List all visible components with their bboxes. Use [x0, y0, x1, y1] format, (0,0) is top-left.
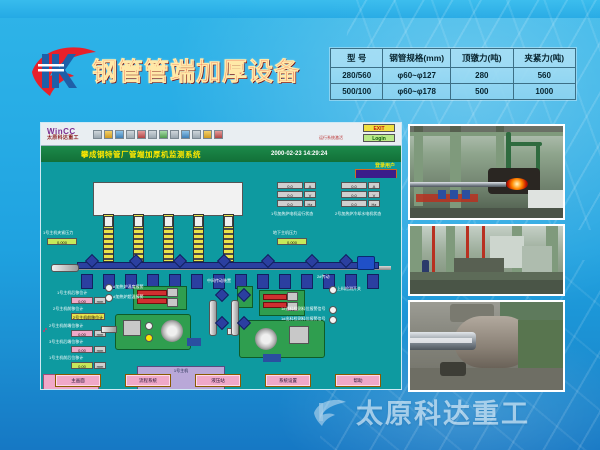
status-lamp — [329, 286, 337, 294]
valve-icon — [215, 288, 229, 302]
meter-label: 2号主机前端位移计 — [49, 323, 83, 329]
motor-group-label-2: 2号加热炉冷却水电机状态 — [335, 211, 381, 217]
roller-stand — [257, 274, 269, 289]
right-clamp-indicator — [263, 294, 287, 300]
right-clamp-block — [287, 292, 298, 301]
wincc-logo: WinCC 太原科达重工 — [41, 128, 79, 141]
photo-workshop-line — [408, 224, 565, 296]
motor-group-label-1: 1号加热炉电机运行状态 — [271, 211, 313, 217]
spec-cell: φ60~φ178 — [383, 84, 451, 100]
nav-button-process[interactable]: 流程系统 — [125, 374, 171, 387]
meter-value: 0.00 — [71, 362, 93, 369]
print-icon[interactable] — [126, 130, 135, 139]
run-icon[interactable] — [203, 130, 212, 139]
spec-cell: 500/100 — [331, 84, 383, 100]
hmi-datetime: 2000-02-23 14:29:24 — [271, 151, 327, 157]
spec-cell: 280 — [451, 68, 513, 84]
hmi-user-bar: 登录用户 — [41, 162, 401, 178]
spec-table: 型 号 钢管规格(mm) 顶镦力(吨) 夹紧力(吨) 280/560 φ60~φ… — [330, 48, 576, 100]
meter-value: 0.00 — [71, 330, 93, 337]
open-icon[interactable] — [93, 130, 102, 139]
page-title: 钢管管端加厚设备 — [92, 52, 300, 88]
right-pressure-label: 地下主机压力 — [273, 230, 297, 236]
clamp-block — [167, 288, 178, 297]
spec-header-cell: 顶镦力(吨) — [451, 49, 513, 68]
spec-header-row: 型 号 钢管规格(mm) 顶镦力(吨) 夹紧力(吨) — [331, 49, 576, 68]
nav-button-hydraulic[interactable]: 液压站 — [195, 374, 241, 387]
exit-button[interactable]: EXIT — [363, 124, 395, 132]
table-row: 280/560 φ60~φ127 280 560 — [331, 68, 576, 84]
status-lamp — [329, 306, 337, 314]
hydraulic-cylinder — [51, 264, 79, 272]
hmi-toolbar: WinCC 太原科达重工 运行系统激活 EXIT Login — [41, 123, 401, 146]
watermark-text: 太原科达重工 — [356, 392, 530, 431]
right-note: 2#传动 — [317, 274, 329, 280]
spacer2 — [43, 330, 45, 332]
hmi-mimic-canvas: 1号主机夹紧压力 0.000 地下主机压力 0.000 0.0 A 0.0 V … — [41, 178, 401, 390]
roller-stand — [191, 274, 203, 289]
motor2-voltage-value: 0.0 — [341, 191, 367, 198]
photo-upsetting-machine-hot-pipe — [408, 124, 565, 220]
motor2-freq-value: 0.0 — [341, 200, 367, 207]
right-drive-housing — [289, 326, 309, 344]
user-label: 登录用户 — [375, 162, 395, 169]
motor2-voltage-unit: V — [368, 191, 380, 198]
stop-icon[interactable] — [214, 130, 223, 139]
meter-value: 0.00 — [71, 346, 93, 353]
drive-shaft — [101, 326, 117, 333]
top-band — [0, 0, 600, 18]
spec-cell: φ60~φ127 — [383, 68, 451, 84]
folder-icon[interactable] — [104, 130, 113, 139]
clamp-block — [167, 298, 178, 307]
alarm-lamp — [105, 284, 113, 292]
nav-button-help[interactable]: 帮助 — [335, 374, 381, 387]
zoom-icon[interactable] — [192, 130, 201, 139]
column-cap — [134, 216, 143, 227]
spec-header-cell: 型 号 — [331, 49, 383, 68]
hmi-screenshot: WinCC 太原科达重工 运行系统激活 EXIT Login — [40, 122, 402, 390]
meter-unit: mm — [94, 346, 106, 353]
roller-stand — [301, 274, 313, 289]
spec-cell: 1000 — [513, 84, 575, 100]
column-cap — [224, 216, 233, 227]
press-frame — [93, 182, 243, 216]
toolbar-icons[interactable] — [93, 130, 223, 139]
spec-cell: 500 — [451, 84, 513, 100]
hmi-button-row: 主画面 流程系统 液压站 系统设置 帮助 — [47, 374, 397, 388]
roller-stand — [81, 274, 93, 289]
save-icon[interactable] — [115, 130, 124, 139]
meter-label: 1号主机前后位移计 — [49, 355, 83, 361]
paste-icon[interactable] — [159, 130, 168, 139]
meter-unit: mm — [94, 362, 106, 369]
motor-current-value: 0.0 — [277, 182, 303, 189]
hmi-title-bar: 攀成钢特管厂管端加厚机监测系统 2000-02-23 14:29:24 — [41, 146, 401, 162]
status-lamp-label: 1#进料检测料位报警信号 — [281, 306, 325, 312]
spec-cell: 280/560 — [331, 68, 383, 84]
gear-icon — [253, 326, 279, 352]
undo-icon[interactable] — [170, 130, 179, 139]
lamp-label: 1#加热炉超温报警 — [111, 294, 143, 300]
nav-button-main[interactable]: 主画面 — [55, 374, 101, 387]
spec-cell: 560 — [513, 68, 575, 84]
right-pressure-value: 0.000 — [277, 238, 307, 245]
spec-header-cell: 夹紧力(吨) — [513, 49, 575, 68]
right-drive-unit — [239, 320, 325, 358]
motor2-current-value: 0.0 — [341, 182, 367, 189]
drive-motor — [357, 256, 375, 270]
motor-voltage-value: 0.0 — [277, 191, 303, 198]
login-button[interactable]: Login — [363, 134, 395, 142]
left-pressure-value: 0.000 — [47, 238, 77, 245]
column-cap — [194, 216, 203, 227]
center-label: 中间传动装置 — [207, 278, 231, 284]
watermark-logo-icon — [312, 397, 348, 427]
meter-label: 1号主机后移位计 — [57, 290, 87, 296]
right-coupling — [263, 354, 281, 362]
cut-icon[interactable] — [137, 130, 146, 139]
drive-lamp — [145, 334, 153, 342]
motor-voltage-unit: V — [304, 191, 316, 198]
roller-stand — [279, 274, 291, 289]
motor-freq-value: 0.0 — [277, 200, 303, 207]
table-row: 500/100 φ60~φ178 500 1000 — [331, 84, 576, 100]
column-cap — [104, 216, 113, 227]
motor2-current-unit: A — [368, 182, 380, 189]
left-pressure-label: 1号主机夹紧压力 — [43, 230, 73, 236]
hmi-system-title: 攀成钢特管厂管端加厚机监测系统 — [81, 149, 201, 160]
spec-header-cell: 钢管规格(mm) — [383, 49, 451, 68]
motor-freq-unit: Hz — [304, 200, 316, 207]
lamp-label: 上料检测开关 — [337, 286, 361, 292]
copy-icon[interactable] — [148, 130, 157, 139]
photo-pipe-end-closeup — [408, 300, 565, 392]
roller-stand — [367, 274, 379, 289]
toolbar-note: 运行系统激活 — [319, 135, 343, 141]
motor-current-unit: A — [304, 182, 316, 189]
watermark: 太原科达重工 — [312, 392, 530, 431]
alarm-lamp — [105, 294, 113, 302]
cylinder — [231, 300, 239, 336]
spacer — [45, 328, 47, 330]
motor2-freq-unit: Hz — [368, 200, 380, 207]
meter-value: 0.00 — [71, 297, 93, 304]
meter-value: 2号主机前移位计 — [71, 313, 105, 320]
slide-root: 钢管管端加厚设备 型 号 钢管规格(mm) 顶镦力(吨) 夹紧力(吨) 280/… — [0, 0, 600, 450]
meter-label: 2号主机前移位计 — [53, 306, 83, 312]
drive-housing — [123, 320, 141, 336]
wincc-logo-sub: 太原科达重工 — [47, 136, 79, 141]
column-cap — [164, 216, 173, 227]
nav-button-settings[interactable]: 系统设置 — [265, 374, 311, 387]
gear-icon — [159, 318, 185, 344]
drive-coupling — [187, 338, 201, 346]
status-lamp — [329, 316, 337, 324]
kd-logo — [28, 42, 102, 98]
meter-label: 3号主机后端位移计 — [49, 339, 83, 345]
cylinder — [209, 300, 217, 336]
lamp-label: 1#加热炉温度报警 — [111, 284, 143, 290]
redo-icon[interactable] — [181, 130, 190, 139]
status-lamp-label: 1#出料检测料位报警信号 — [281, 316, 325, 322]
drive-lamp — [145, 322, 153, 330]
